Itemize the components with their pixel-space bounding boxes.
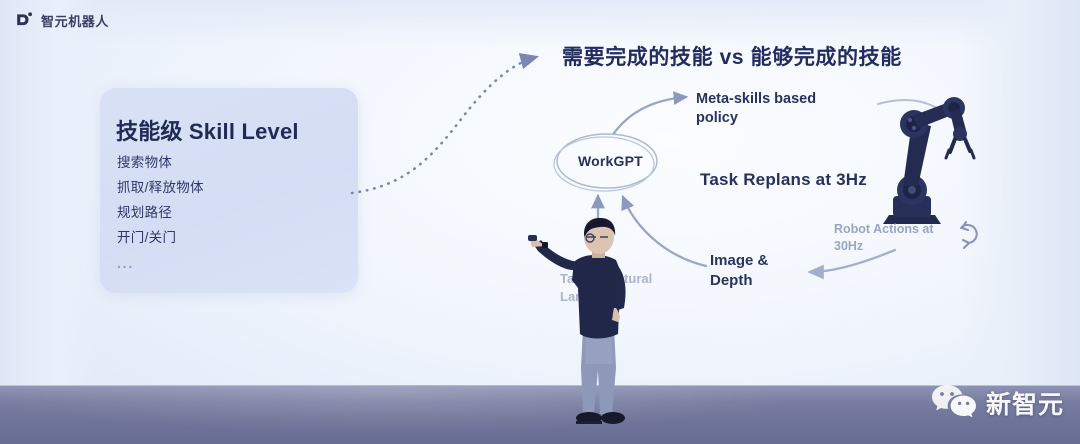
arrow-workgpt-to-meta [614, 97, 686, 133]
label-workgpt: WorkGPT [578, 153, 643, 169]
refresh-cycle-icon [961, 222, 977, 248]
screenshot-root: 智元机器人 技能级 Skill Level 搜索物体 抓取/释放物体 规划路径 … [0, 0, 1080, 444]
dotted-curve-arrow-icon [352, 57, 536, 193]
robot-arm-icon [883, 97, 974, 224]
wechat-logo-icon [931, 383, 977, 422]
label-task-replans: Task Replans at 3Hz [700, 170, 867, 190]
watermark: 新智元 [931, 383, 1064, 422]
presenter-clicker-icon [528, 235, 537, 241]
label-meta-skills-policy: Meta-skills based policy [696, 90, 816, 128]
presenter-pointing-at-slide [528, 218, 656, 444]
label-image-depth: Image & Depth [710, 251, 768, 291]
label-robot-actions: Robot Actions at 30Hz [834, 221, 934, 255]
watermark-text: 新智元 [986, 385, 1064, 421]
